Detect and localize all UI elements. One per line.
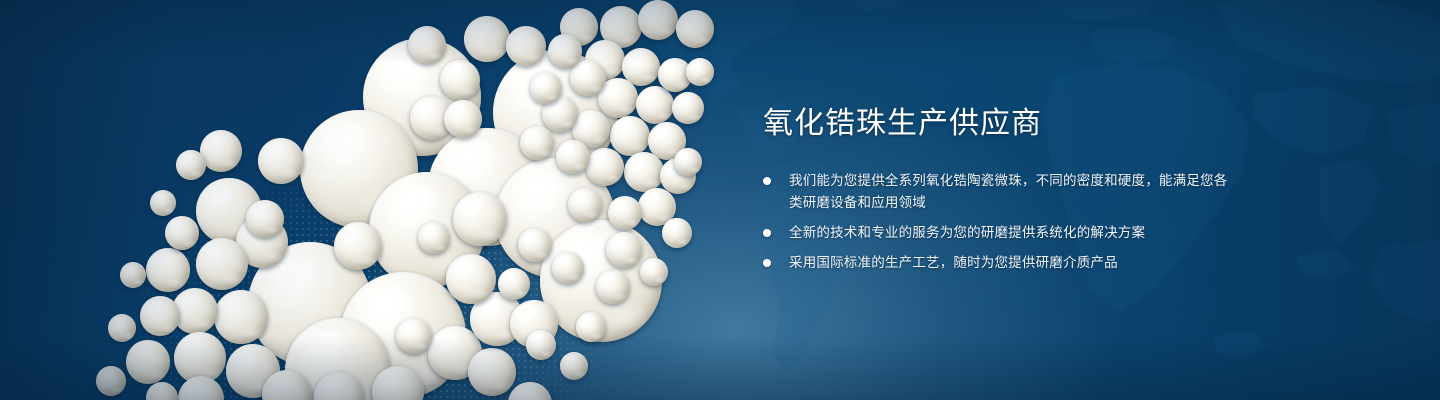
list-item-label: 我们能为您提供全系列氧化锆陶瓷微珠，不同的密度和硬度，能满足您各类研磨设备和应用… [789,173,1227,210]
feature-list: 我们能为您提供全系列氧化锆陶瓷微珠，不同的密度和硬度，能满足您各类研磨设备和应用… [763,170,1233,274]
list-item: 全新的技术和专业的服务为您的研磨提供系统化的解决方案 [763,222,1233,244]
bullet-dot-icon [763,259,771,267]
hero-banner: 氧化锆珠生产供应商 我们能为您提供全系列氧化锆陶瓷微珠，不同的密度和硬度，能满足… [0,0,1440,400]
list-item: 我们能为您提供全系列氧化锆陶瓷微珠，不同的密度和硬度，能满足您各类研磨设备和应用… [763,170,1233,214]
bullet-dot-icon [763,229,771,237]
page-title: 氧化锆珠生产供应商 [763,104,1233,144]
list-item: 采用国际标准的生产工艺，随时为您提供研磨介质产品 [763,252,1233,274]
bullet-dot-icon [763,177,771,185]
list-item-label: 全新的技术和专业的服务为您的研磨提供系统化的解决方案 [789,225,1145,240]
banner-copy: 氧化锆珠生产供应商 我们能为您提供全系列氧化锆陶瓷微珠，不同的密度和硬度，能满足… [763,104,1233,274]
list-item-label: 采用国际标准的生产工艺，随时为您提供研磨介质产品 [789,255,1118,270]
